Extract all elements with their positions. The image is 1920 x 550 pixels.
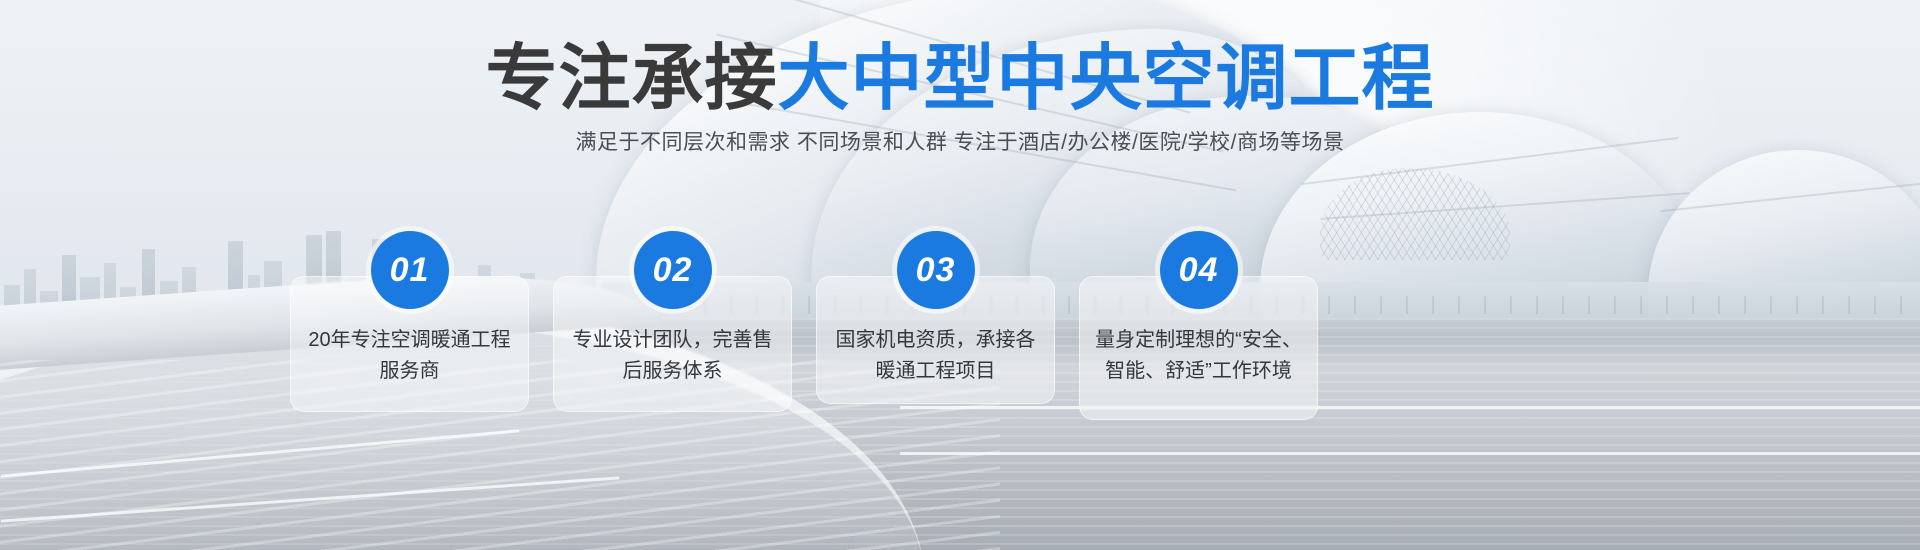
feature-card[interactable]: 03 国家机电资质，承接各暖通工程项目 <box>816 276 1055 404</box>
card-number-badge: 04 <box>1160 231 1238 309</box>
card-description: 20年专注空调暖通工程服务商 <box>305 325 514 387</box>
feature-card-list: 01 20年专注空调暖通工程服务商 02 专业设计团队，完善售后服务体系 03 … <box>290 276 1690 436</box>
card-description: 量身定制理想的“安全、智能、舒适”工作环境 <box>1094 325 1303 387</box>
headline-blue-text: 大中型中央空调工程 <box>778 39 1435 119</box>
card-number-badge: 01 <box>371 231 449 309</box>
page-subtitle: 满足于不同层次和需求 不同场景和人群 专注于酒店/办公楼/医院/学校/商场等场景 <box>0 128 1920 158</box>
card-description: 专业设计团队，完善售后服务体系 <box>568 325 777 387</box>
card-description: 国家机电资质，承接各暖通工程项目 <box>831 325 1040 387</box>
page-title: 专注承接大中型中央空调工程 <box>0 40 1920 118</box>
hero-banner: 专注承接大中型中央空调工程 满足于不同层次和需求 不同场景和人群 专注于酒店/办… <box>0 0 1920 550</box>
feature-card[interactable]: 02 专业设计团队，完善售后服务体系 <box>553 276 792 412</box>
headline-dark-text: 专注承接 <box>485 39 777 119</box>
feature-card[interactable]: 01 20年专注空调暖通工程服务商 <box>290 276 529 412</box>
card-number-badge: 03 <box>897 231 975 309</box>
card-number-badge: 02 <box>634 231 712 309</box>
feature-card[interactable]: 04 量身定制理想的“安全、智能、舒适”工作环境 <box>1079 276 1318 420</box>
